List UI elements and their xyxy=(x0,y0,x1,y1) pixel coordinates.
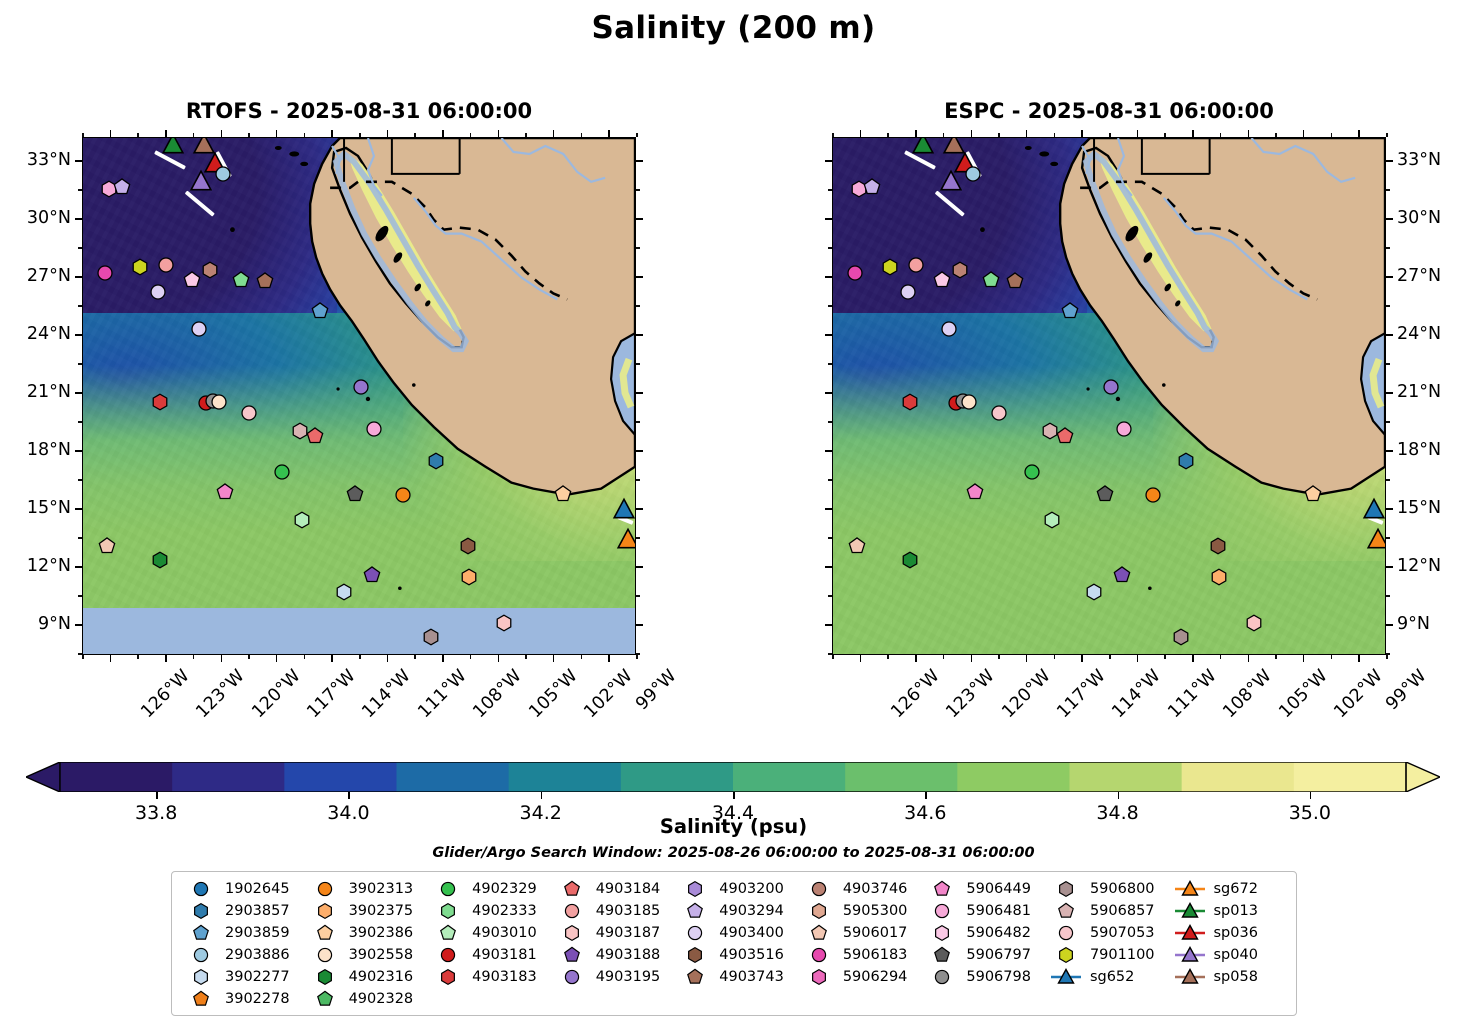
lon-minor-tick xyxy=(581,133,583,137)
map-marker-5906017[interactable] xyxy=(848,538,865,555)
map-marker-sp040[interactable] xyxy=(190,172,211,193)
map-marker-4903743[interactable] xyxy=(257,273,274,290)
pentagon-marker-icon xyxy=(925,880,959,898)
map-marker-7901100[interactable] xyxy=(132,259,149,276)
map-marker-5906449b[interactable] xyxy=(216,484,233,501)
map-marker-2903886[interactable] xyxy=(964,165,981,182)
lat-tick xyxy=(636,566,643,568)
map-marker-sp058[interactable] xyxy=(944,137,965,155)
lat-tick xyxy=(1386,160,1393,162)
lon-tick xyxy=(915,655,917,662)
legend-column-2: 49023294902333490301049031814903183 xyxy=(425,879,549,1009)
map-marker-4903200[interactable] xyxy=(190,320,207,337)
pentagon-marker-icon xyxy=(678,902,712,920)
legend-column-6: 59064495906481590648259067975906798 xyxy=(919,879,1043,1009)
lat-tick xyxy=(825,218,832,220)
hexagon-marker-icon xyxy=(802,902,836,920)
legend-label: 4903184 xyxy=(596,881,661,897)
legend-item-5906183[interactable]: 5906183 xyxy=(796,945,920,965)
lat-minor-tick xyxy=(636,595,640,597)
legend-label: 2903857 xyxy=(225,903,290,919)
lon-tick xyxy=(608,130,610,137)
lat-minor-tick xyxy=(1386,247,1390,249)
map-marker-5906797[interactable] xyxy=(347,486,364,503)
legend-label: 4903195 xyxy=(596,969,661,985)
map-marker-5906482[interactable] xyxy=(183,272,200,289)
map-panel-espc[interactable]: ESPC - 2025-08-31 06:00:00 xyxy=(832,137,1386,655)
map-marker-3902375[interactable] xyxy=(461,568,478,585)
map-marker-4903516[interactable] xyxy=(459,538,476,555)
lat-label: 30°N xyxy=(1397,208,1441,228)
triangle-marker-icon xyxy=(1173,968,1207,986)
lon-tick xyxy=(608,655,610,662)
map-marker-4902316[interactable] xyxy=(902,551,919,568)
map-marker-2903859[interactable] xyxy=(312,303,329,320)
lat-minor-tick xyxy=(78,595,82,597)
legend-label: 2903859 xyxy=(225,925,290,941)
legend-label: 5905300 xyxy=(843,903,908,919)
map-marker-5906449[interactable] xyxy=(365,420,382,437)
lon-minor-tick xyxy=(414,133,416,137)
lon-minor-tick xyxy=(137,655,139,659)
lon-label: 111°W xyxy=(1164,666,1220,722)
map-marker-2903857[interactable] xyxy=(428,453,445,470)
panel-title-rtofs: RTOFS - 2025-08-31 06:00:00 xyxy=(82,99,636,123)
lat-minor-tick xyxy=(636,537,640,539)
lat-label: 9°N xyxy=(38,614,71,634)
legend-item-5906449[interactable]: 5906449 xyxy=(919,879,1043,899)
lon-tick xyxy=(553,655,555,662)
lon-tick xyxy=(860,130,862,137)
legend-item-5906797[interactable]: 5906797 xyxy=(919,945,1043,965)
map-marker-4903400[interactable] xyxy=(150,284,167,301)
legend-item-5906798[interactable]: 5906798 xyxy=(919,967,1043,987)
lat-minor-tick xyxy=(78,305,82,307)
map-marker-4903195[interactable] xyxy=(352,379,369,396)
legend-label: 4903010 xyxy=(472,925,537,941)
map-canvas-rtofs[interactable] xyxy=(82,137,636,655)
legend-item-4903746[interactable]: 4903746 xyxy=(796,879,920,899)
lat-label: 27°N xyxy=(27,266,71,286)
map-marker-4902333[interactable] xyxy=(983,271,1000,288)
circle-marker-icon xyxy=(1049,924,1083,942)
lon-label: 99°W xyxy=(1382,666,1430,714)
map-marker-5906449[interactable] xyxy=(1115,420,1132,437)
legend-item-7901100[interactable]: 7901100 xyxy=(1043,945,1167,965)
legend-item-sp040[interactable]: sp040 xyxy=(1167,945,1291,965)
map-marker-4902333b[interactable] xyxy=(1043,512,1060,529)
lat-minor-tick xyxy=(636,305,640,307)
lon-minor-tick xyxy=(359,655,361,659)
legend-label: 4903746 xyxy=(843,881,908,897)
lon-minor-tick xyxy=(1220,655,1222,659)
lon-label: 120°W xyxy=(248,666,304,722)
colorbar-tick xyxy=(1310,792,1312,799)
map-marker-3902386[interactable] xyxy=(1305,486,1322,503)
legend-label: 4903400 xyxy=(719,925,784,941)
map-marker-sp013[interactable] xyxy=(163,137,184,155)
map-marker-3902313[interactable] xyxy=(395,487,412,504)
map-marker-5906482[interactable] xyxy=(933,272,950,289)
map-marker-3902375[interactable] xyxy=(1211,568,1228,585)
triangle-marker-icon xyxy=(1049,968,1083,986)
lat-label: 33°N xyxy=(1397,150,1441,170)
pentagon-marker-icon xyxy=(555,880,589,898)
legend-item-2903859[interactable]: 2903859 xyxy=(178,923,302,943)
legend-item-1902645[interactable]: 1902645 xyxy=(178,879,302,899)
lat-tick xyxy=(1386,508,1393,510)
colorbar: 33.834.034.234.434.634.835.0 xyxy=(26,762,1440,792)
map-marker-sp040[interactable] xyxy=(940,172,961,193)
colorbar-tick xyxy=(1118,792,1120,799)
lat-tick xyxy=(75,218,82,220)
pentagon-marker-icon xyxy=(431,924,465,942)
map-marker-5906800[interactable] xyxy=(422,628,439,645)
lat-minor-tick xyxy=(828,595,832,597)
hexagon-marker-icon xyxy=(802,968,836,986)
hexagon-marker-icon xyxy=(678,946,712,964)
legend-label: 5906800 xyxy=(1090,881,1155,897)
legend-item-4903185[interactable]: 4903185 xyxy=(549,901,673,921)
lat-tick xyxy=(75,566,82,568)
legend-item-4903188[interactable]: 4903188 xyxy=(549,945,673,965)
legend-item-3902558[interactable]: 3902558 xyxy=(302,945,426,965)
lat-label: 15°N xyxy=(27,498,71,518)
map-marker-3902277[interactable] xyxy=(336,584,353,601)
legend-item-4903200[interactable]: 4903200 xyxy=(672,879,796,899)
legend-label: 4902333 xyxy=(472,903,537,919)
lon-tick xyxy=(276,130,278,137)
legend-item-5906482[interactable]: 5906482 xyxy=(919,923,1043,943)
legend-column-8: sg672sp013sp036sp040sp058 xyxy=(1167,879,1291,1009)
lat-minor-tick xyxy=(78,479,82,481)
lon-tick xyxy=(331,130,333,137)
lat-minor-tick xyxy=(636,363,640,365)
lat-minor-tick xyxy=(1386,537,1390,539)
legend-item-sp058[interactable]: sp058 xyxy=(1167,967,1291,987)
legend-label: 5906857 xyxy=(1090,903,1155,919)
legend-label: 4903183 xyxy=(472,969,537,985)
lat-label: 33°N xyxy=(27,150,71,170)
lon-minor-tick xyxy=(525,133,527,137)
map-marker-5906017[interactable] xyxy=(98,538,115,555)
map-canvas-espc[interactable] xyxy=(832,137,1386,655)
map-marker-4903185[interactable] xyxy=(157,257,174,274)
map-marker-2903857[interactable] xyxy=(1178,453,1195,470)
lon-tick xyxy=(165,130,167,137)
legend-item-5906800[interactable]: 5906800 xyxy=(1043,879,1167,899)
lon-tick xyxy=(553,130,555,137)
circle-marker-icon xyxy=(925,902,959,920)
legend-item-sg652[interactable]: sg652 xyxy=(1043,967,1167,987)
legend-label: 4903516 xyxy=(719,947,784,963)
map-marker-4903294[interactable] xyxy=(113,179,130,196)
colorbar-gradient xyxy=(26,762,1440,792)
lon-minor-tick xyxy=(1164,655,1166,659)
legend-label: 3902313 xyxy=(349,881,414,897)
map-marker-sg652[interactable] xyxy=(1363,499,1384,520)
lon-label: 126°W xyxy=(887,666,943,722)
lat-tick xyxy=(636,624,643,626)
legend-item-4903195[interactable]: 4903195 xyxy=(549,967,673,987)
map-marker-4902333[interactable] xyxy=(233,271,250,288)
lat-label: 9°N xyxy=(1397,614,1430,634)
lon-label: 123°W xyxy=(193,666,249,722)
legend-item-sp013[interactable]: sp013 xyxy=(1167,901,1291,921)
map-marker-4902316[interactable] xyxy=(152,551,169,568)
map-marker-4903183[interactable] xyxy=(152,393,169,410)
legend-item-3902375[interactable]: 3902375 xyxy=(302,901,426,921)
legend-item-2903886[interactable]: 2903886 xyxy=(178,945,302,965)
legend-column-5: 49037465905300590601759061835906294 xyxy=(796,879,920,1009)
lon-tick xyxy=(1137,655,1139,662)
legend-item-3902386[interactable]: 3902386 xyxy=(302,923,426,943)
map-marker-4903184[interactable] xyxy=(1056,428,1073,445)
map-marker-2903859[interactable] xyxy=(1062,303,1079,320)
circle-marker-icon xyxy=(184,880,218,898)
legend-item-4903516[interactable]: 4903516 xyxy=(672,945,796,965)
map-marker-sg652[interactable] xyxy=(613,499,634,520)
legend-item-2903857[interactable]: 2903857 xyxy=(178,901,302,921)
lon-tick xyxy=(860,655,862,662)
legend-column-4: 49032004903294490340049035164903743 xyxy=(672,879,796,1009)
lon-label: 117°W xyxy=(303,666,359,722)
lon-tick xyxy=(1026,130,1028,137)
legend-label: 3902558 xyxy=(349,947,414,963)
lat-tick xyxy=(1386,276,1393,278)
lat-minor-tick xyxy=(636,247,640,249)
circle-marker-icon xyxy=(184,946,218,964)
map-marker-4903746[interactable] xyxy=(951,261,968,278)
map-marker-5906183[interactable] xyxy=(97,264,114,281)
legend-item-sp036[interactable]: sp036 xyxy=(1167,923,1291,943)
lon-tick xyxy=(971,130,973,137)
legend-item-5906294[interactable]: 5906294 xyxy=(796,967,920,987)
lat-minor-tick xyxy=(1386,305,1390,307)
lon-tick xyxy=(1248,655,1250,662)
legend-item-4902316[interactable]: 4902316 xyxy=(302,967,426,987)
map-marker-4903187[interactable] xyxy=(1246,615,1263,632)
legend-item-4903187[interactable]: 4903187 xyxy=(549,923,673,943)
hexagon-marker-icon xyxy=(555,924,589,942)
circle-marker-icon xyxy=(802,880,836,898)
lon-tick xyxy=(442,655,444,662)
search-window-label: Glider/Argo Search Window: 2025-08-26 06… xyxy=(0,845,1467,861)
legend-item-5905300[interactable]: 5905300 xyxy=(796,901,920,921)
lat-label: 21°N xyxy=(1397,382,1441,402)
lat-tick xyxy=(825,508,832,510)
circle-marker-icon xyxy=(925,968,959,986)
lon-minor-tick xyxy=(470,655,472,659)
lon-tick xyxy=(1303,130,1305,137)
legend-item-3902278[interactable]: 3902278 xyxy=(178,989,302,1009)
legend-item-4902329[interactable]: 4902329 xyxy=(425,879,549,899)
map-marker-5906183[interactable] xyxy=(847,264,864,281)
hexagon-marker-icon xyxy=(925,924,959,942)
lat-tick xyxy=(825,160,832,162)
lat-tick xyxy=(825,392,832,394)
legend-label: 5906294 xyxy=(843,969,908,985)
lon-minor-tick xyxy=(998,133,1000,137)
lon-label: 105°W xyxy=(1275,666,1331,722)
legend-item-4903010[interactable]: 4903010 xyxy=(425,923,549,943)
lon-minor-tick xyxy=(1331,655,1333,659)
map-marker-4903188[interactable] xyxy=(363,567,380,584)
lon-tick xyxy=(331,655,333,662)
lon-minor-tick xyxy=(832,655,834,659)
lon-minor-tick xyxy=(887,655,889,659)
legend-item-5907053[interactable]: 5907053 xyxy=(1043,923,1167,943)
legend-item-4903181[interactable]: 4903181 xyxy=(425,945,549,965)
map-marker-5906800[interactable] xyxy=(1172,628,1189,645)
map-marker-4903746[interactable] xyxy=(201,261,218,278)
lon-tick xyxy=(1248,130,1250,137)
map-marker-4903185[interactable] xyxy=(907,257,924,274)
legend-item-5906017[interactable]: 5906017 xyxy=(796,923,920,943)
legend-label: 3902375 xyxy=(349,903,414,919)
lat-tick xyxy=(75,276,82,278)
lat-label: 18°N xyxy=(1397,440,1441,460)
lon-minor-tick xyxy=(1109,133,1111,137)
hexagon-marker-icon xyxy=(1049,880,1083,898)
map-marker-sg672[interactable] xyxy=(617,530,636,551)
legend-item-4902333[interactable]: 4902333 xyxy=(425,901,549,921)
lat-tick xyxy=(636,160,643,162)
legend-label: sg672 xyxy=(1214,881,1258,897)
map-marker-sp058[interactable] xyxy=(194,137,215,155)
map-marker-4903294[interactable] xyxy=(863,179,880,196)
circle-marker-icon xyxy=(678,924,712,942)
map-marker-4903200[interactable] xyxy=(940,320,957,337)
legend-label: 4903294 xyxy=(719,903,784,919)
lon-minor-tick xyxy=(1275,133,1277,137)
lat-minor-tick xyxy=(828,479,832,481)
lon-minor-tick xyxy=(525,655,527,659)
legend-item-sg672[interactable]: sg672 xyxy=(1167,879,1291,899)
map-marker-5907053[interactable] xyxy=(990,405,1007,422)
circle-marker-icon xyxy=(802,946,836,964)
lon-tick xyxy=(221,655,223,662)
map-marker-sp013[interactable] xyxy=(913,137,934,155)
legend-label: 2903886 xyxy=(225,947,290,963)
lat-minor-tick xyxy=(78,247,82,249)
lat-minor-tick xyxy=(78,189,82,191)
lat-minor-tick xyxy=(828,363,832,365)
legend-label: sg652 xyxy=(1090,969,1134,985)
lat-label: 24°N xyxy=(1397,324,1441,344)
lon-tick xyxy=(1026,655,1028,662)
legend-item-5906481[interactable]: 5906481 xyxy=(919,901,1043,921)
lon-label: 120°W xyxy=(998,666,1054,722)
legend-item-3902277[interactable]: 3902277 xyxy=(178,967,302,987)
lat-tick xyxy=(75,160,82,162)
map-marker-sg672[interactable] xyxy=(1367,530,1386,551)
lon-tick xyxy=(1081,655,1083,662)
lon-label: 126°W xyxy=(137,666,193,722)
map-marker-4903184[interactable] xyxy=(306,428,323,445)
legend-label: 4902329 xyxy=(472,881,537,897)
map-marker-4903743[interactable] xyxy=(1007,273,1024,290)
legend-label: 7901100 xyxy=(1090,947,1155,963)
map-marker-3902386[interactable] xyxy=(555,486,572,503)
legend-label: 5906798 xyxy=(966,969,1031,985)
map-marker-4902333b[interactable] xyxy=(293,512,310,529)
map-marker-5906449b[interactable] xyxy=(966,484,983,501)
lon-minor-tick xyxy=(1386,655,1388,659)
legend-item-4902328[interactable]: 4902328 xyxy=(302,989,426,1009)
lon-label: 114°W xyxy=(359,666,415,722)
map-marker-4903188[interactable] xyxy=(1113,567,1130,584)
lon-tick xyxy=(498,130,500,137)
map-marker-2903886[interactable] xyxy=(214,165,231,182)
legend-label: 5907053 xyxy=(1090,925,1155,941)
map-marker-4902329[interactable] xyxy=(273,464,290,481)
lon-tick xyxy=(387,655,389,662)
legend-item-4903743[interactable]: 4903743 xyxy=(672,967,796,987)
map-marker-3902313[interactable] xyxy=(1145,487,1162,504)
map-marker-5906797[interactable] xyxy=(1097,486,1114,503)
lon-minor-tick xyxy=(1386,133,1388,137)
legend-item-4903183[interactable]: 4903183 xyxy=(425,967,549,987)
map-panel-rtofs[interactable]: RTOFS - 2025-08-31 06:00:00 xyxy=(82,137,636,655)
map-marker-4903183[interactable] xyxy=(902,393,919,410)
lon-tick xyxy=(165,655,167,662)
map-marker-4903187[interactable] xyxy=(496,615,513,632)
legend-item-4903184[interactable]: 4903184 xyxy=(549,879,673,899)
legend-column-3: 49031844903185490318749031884903195 xyxy=(549,879,673,1009)
triangle-marker-icon xyxy=(1173,902,1207,920)
map-marker-3902558[interactable] xyxy=(961,393,978,410)
lat-tick xyxy=(1386,624,1393,626)
triangle-marker-icon xyxy=(1173,946,1207,964)
lon-minor-tick xyxy=(1331,133,1333,137)
lon-minor-tick xyxy=(193,133,195,137)
lon-minor-tick xyxy=(1054,133,1056,137)
map-marker-4903400[interactable] xyxy=(900,284,917,301)
legend-label: 5906183 xyxy=(843,947,908,963)
map-marker-3902277[interactable] xyxy=(1086,584,1103,601)
legend-item-3902313[interactable]: 3902313 xyxy=(302,879,426,899)
legend-item-4903400[interactable]: 4903400 xyxy=(672,923,796,943)
lat-tick xyxy=(75,624,82,626)
lon-label: 108°W xyxy=(470,666,526,722)
map-marker-4903195[interactable] xyxy=(1102,379,1119,396)
lon-label: 108°W xyxy=(1220,666,1276,722)
map-marker-3902558[interactable] xyxy=(211,393,228,410)
legend-label: 4903181 xyxy=(472,947,537,963)
legend-label: 4903200 xyxy=(719,881,784,897)
lat-minor-tick xyxy=(1386,421,1390,423)
lat-tick xyxy=(75,334,82,336)
lon-tick xyxy=(1081,130,1083,137)
legend-label: sp013 xyxy=(1214,903,1258,919)
lat-tick xyxy=(75,392,82,394)
map-marker-4902329[interactable] xyxy=(1023,464,1040,481)
map-marker-4903516[interactable] xyxy=(1209,538,1226,555)
legend-item-5906857[interactable]: 5906857 xyxy=(1043,901,1167,921)
lat-tick xyxy=(825,334,832,336)
lat-label: 30°N xyxy=(27,208,71,228)
lat-label: 18°N xyxy=(27,440,71,460)
legend-item-4903294[interactable]: 4903294 xyxy=(672,901,796,921)
lon-minor-tick xyxy=(193,655,195,659)
lat-minor-tick xyxy=(828,247,832,249)
lat-minor-tick xyxy=(828,189,832,191)
map-marker-7901100[interactable] xyxy=(882,259,899,276)
map-marker-5907053[interactable] xyxy=(240,405,257,422)
legend-label: 3902386 xyxy=(349,925,414,941)
circle-marker-icon xyxy=(431,946,465,964)
